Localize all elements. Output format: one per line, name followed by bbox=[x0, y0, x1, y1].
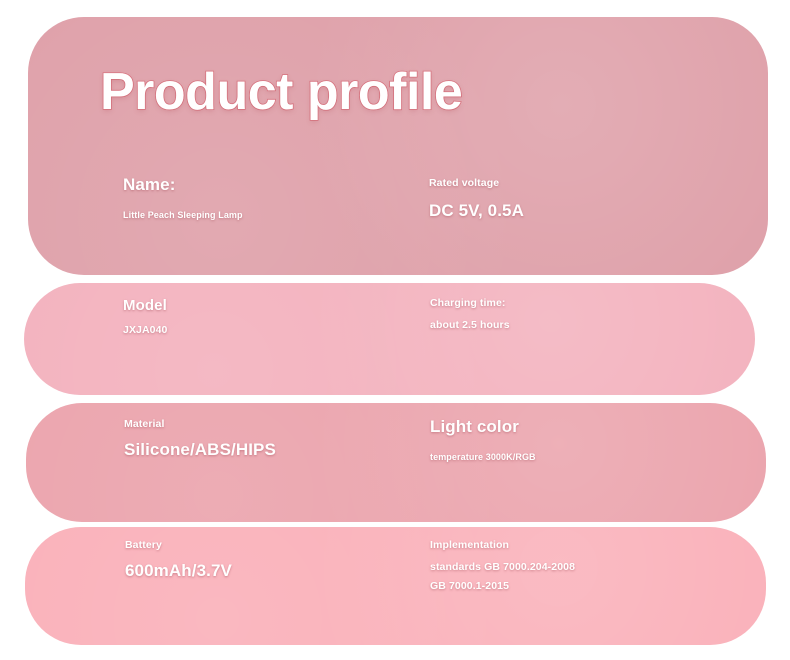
spec-field-rated-voltage: Rated voltage DC 5V, 0.5A bbox=[429, 177, 524, 221]
spec-label-light-color: Light color bbox=[430, 417, 536, 437]
spec-value-implementation-line-2: GB 7000.1-2015 bbox=[430, 580, 575, 592]
spec-field-model: Model JXJA040 bbox=[123, 297, 167, 336]
spec-value-implementation-line-1: standards GB 7000.204-2008 bbox=[430, 561, 575, 573]
spec-value-implementation: standards GB 7000.204-2008 GB 7000.1-201… bbox=[430, 561, 575, 592]
spec-value-name: Little Peach Sleeping Lamp bbox=[123, 210, 243, 220]
spec-field-implementation: Implementation standards GB 7000.204-200… bbox=[430, 539, 575, 592]
spec-label-rated-voltage: Rated voltage bbox=[429, 177, 524, 189]
spec-field-battery: Battery 600mAh/3.7V bbox=[125, 539, 232, 581]
spec-label-battery: Battery bbox=[125, 539, 232, 551]
spec-label-implementation: Implementation bbox=[430, 539, 575, 551]
spec-value-material: Silicone/ABS/HIPS bbox=[124, 440, 276, 460]
spec-field-light-color: Light color temperature 3000K/RGB bbox=[430, 417, 536, 462]
spec-field-charging-time: Charging time: about 2.5 hours bbox=[430, 297, 510, 331]
page-title: Product profile bbox=[100, 62, 462, 122]
spec-card-1 bbox=[28, 17, 768, 275]
spec-value-charging-time: about 2.5 hours bbox=[430, 319, 510, 331]
spec-value-model: JXJA040 bbox=[123, 324, 167, 336]
spec-label-material: Material bbox=[124, 418, 276, 430]
spec-value-rated-voltage: DC 5V, 0.5A bbox=[429, 201, 524, 221]
spec-value-battery: 600mAh/3.7V bbox=[125, 561, 232, 581]
spec-value-light-color: temperature 3000K/RGB bbox=[430, 452, 536, 462]
spec-label-model: Model bbox=[123, 297, 167, 314]
spec-label-charging-time: Charging time: bbox=[430, 297, 510, 309]
spec-field-material: Material Silicone/ABS/HIPS bbox=[124, 418, 276, 460]
spec-label-name: Name: bbox=[123, 175, 243, 195]
spec-field-name: Name: Little Peach Sleeping Lamp bbox=[123, 175, 243, 220]
product-profile-infographic: Product profile Name: Little Peach Sleep… bbox=[0, 0, 790, 660]
